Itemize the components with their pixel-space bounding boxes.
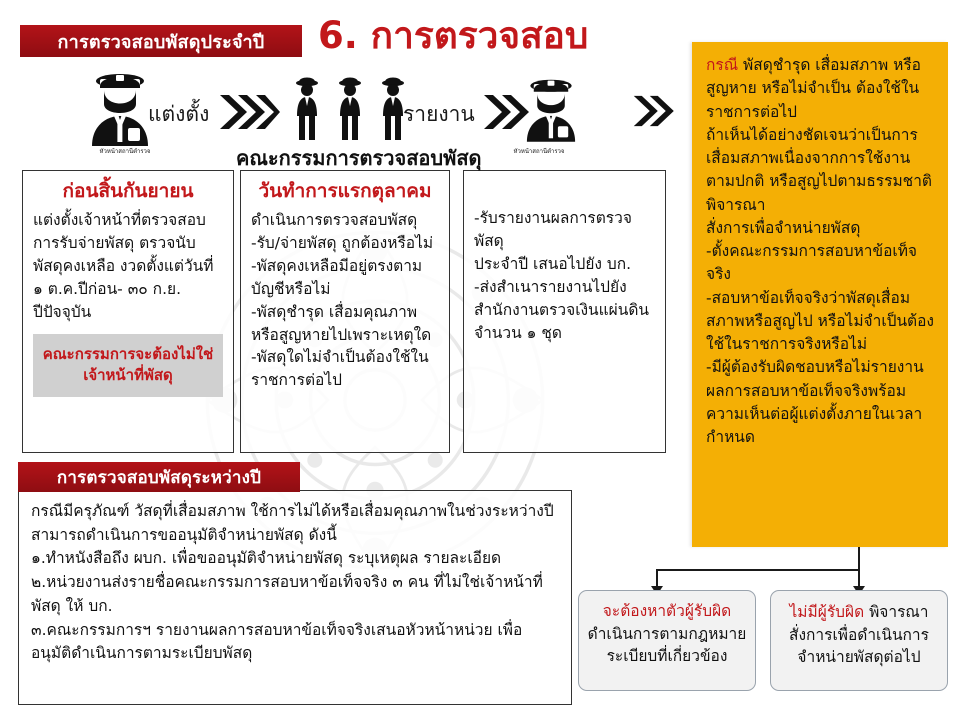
interim-line-1: กรณีมีครุภัณฑ์ วัสดุที่เสื่อมสภาพ ใช้การ… bbox=[31, 500, 559, 524]
result-1-line-1: ดำเนินการตามกฎหมาย bbox=[585, 623, 749, 645]
yellow-block-2: ถ้าเห็นได้อย่างชัดเจนว่าเป็นการเสื่อมสภา… bbox=[706, 124, 936, 217]
card-3-line-3: -ส่งสำเนารายงานไปยัง bbox=[474, 276, 655, 299]
card-2-line-5: -พัสดุชำรุด เสื่อมคุณภาพ bbox=[251, 301, 439, 324]
yellow-block-4: -ตั้งคณะกรรมการสอบหาข้อเท็จจริง bbox=[706, 240, 936, 287]
flow-label-report: รายงาน bbox=[403, 98, 475, 131]
yellow-block-3-head: สั่งการเพื่อจำหน่ายพัสดุ bbox=[706, 217, 936, 240]
card-report-results: -รับรายงานผลการตรวจพัสดุ ประจำปี เสนอไปย… bbox=[463, 170, 666, 453]
card-2-line-1: ดำเนินการตรวจสอบพัสดุ bbox=[251, 209, 439, 232]
card-3-body: -รับรายงานผลการตรวจพัสดุ ประจำปี เสนอไปย… bbox=[474, 179, 655, 345]
panel-damaged-lost-procedure: กรณี พัสดุชำรุด เสื่อมสภาพ หรือสูญหาย หร… bbox=[692, 42, 948, 547]
interim-line-3: ๑.ทำหนังสือถึง ผบก. เพื่อขออนุมัติจำหน่า… bbox=[31, 547, 559, 571]
yellow-block-5: -สอบหาข้อเท็จจริงว่าพัสดุเสื่อมสภาพหรือส… bbox=[706, 287, 936, 357]
inspection-committee-icon bbox=[290, 76, 410, 146]
interim-line-6: ๓.คณะกรรมการฯ รายงานผลการสอบหาข้อเท็จจริ… bbox=[31, 619, 559, 643]
banner-annual-inspection: การตรวจสอบพัสดุประจำปี bbox=[20, 25, 302, 57]
result-2-line-2: จำหน่ายพัสดุต่อไป bbox=[777, 646, 941, 668]
interim-line-5: พัสดุ ให้ บก. bbox=[31, 595, 559, 619]
committee-label: คณะกรรมการตรวจสอบพัสดุ bbox=[236, 142, 482, 174]
card-2-line-2: -รับ/จ่ายพัสดุ ถูกต้องหรือไม่ bbox=[251, 232, 439, 255]
interim-line-7: อนุมัติดำเนินการตามระเบียบพัสดุ bbox=[31, 642, 559, 666]
card-1-title: ก่อนสิ้นกันยายน bbox=[33, 181, 223, 203]
card-3-line-5: จำนวน ๑ ชุด bbox=[474, 322, 655, 345]
card-2-body: ดำเนินการตรวจสอบพัสดุ -รับ/จ่ายพัสดุ ถูก… bbox=[251, 209, 439, 393]
card-before-end-september: ก่อนสิ้นกันยายน แต่งตั้งเจ้าหน้าที่ตรวจส… bbox=[22, 170, 234, 453]
connector-vertical-right bbox=[858, 569, 860, 587]
result-2-head: ไม่มีผู้รับผิด bbox=[790, 603, 865, 621]
yellow-block-1-head: กรณี bbox=[706, 56, 738, 74]
yellow-block-1-text: พัสดุชำรุด เสื่อมสภาพ หรือสูญหาย หรือไม่… bbox=[706, 56, 921, 121]
result-2-head-suffix: พิจารณา bbox=[864, 603, 928, 621]
card-1-line-2: การรับจ่ายพัสดุ ตรวจนับ bbox=[33, 232, 223, 255]
connector-vertical-main bbox=[858, 547, 860, 571]
result-2-line-1: สั่งการเพื่อดำเนินการ bbox=[777, 624, 941, 646]
result-2-head-row: ไม่มีผู้รับผิด พิจารณา bbox=[777, 601, 941, 624]
interim-body: กรณีมีครุภัณฑ์ วัสดุที่เสื่อมสภาพ ใช้การ… bbox=[31, 500, 559, 666]
police-chief-icon bbox=[84, 70, 156, 150]
card-2-line-4: บัญชีหรือไม่ bbox=[251, 278, 439, 301]
yellow-block-6: -มีผู้ต้องรับผิดชอบหรือไม่รายงานผลการสอบ… bbox=[706, 356, 936, 449]
card-2-title: วันทำการแรกตุลาคม bbox=[251, 181, 439, 203]
banner-interim-inspection: การตรวจสอบพัสดุระหว่างปี bbox=[18, 462, 300, 492]
card-1-body: แต่งตั้งเจ้าหน้าที่ตรวจสอบ การรับจ่ายพัส… bbox=[33, 209, 223, 324]
card-2-line-6: หรือสูญหายไปเพราะเหตุใด bbox=[251, 324, 439, 347]
result-box-no-liable-party: ไม่มีผู้รับผิด พิจารณา สั่งการเพื่อดำเนิ… bbox=[770, 590, 948, 691]
result-1-head: จะต้องหาตัวผู้รับผิด bbox=[585, 601, 749, 623]
card-3-line-2: ประจำปี เสนอไปยัง บก. bbox=[474, 253, 655, 276]
panel-interim-inspection: กรณีมีครุภัณฑ์ วัสดุที่เสื่อมสภาพ ใช้การ… bbox=[18, 490, 572, 705]
yellow-block-1: กรณี พัสดุชำรุด เสื่อมสภาพ หรือสูญหาย หร… bbox=[706, 54, 936, 124]
flow-label-appoint: แต่งตั้ง bbox=[148, 98, 209, 131]
card-3-line-4: สำนักงานตรวจเงินแผ่นดิน bbox=[474, 299, 655, 322]
card-2-line-3: -พัสดุคงเหลือมีอยู่ตรงตาม bbox=[251, 255, 439, 278]
connector-horizontal-branch bbox=[656, 569, 860, 571]
result-box-liable-party: จะต้องหาตัวผู้รับผิด ดำเนินการตามกฎหมาย … bbox=[578, 590, 756, 691]
interim-line-2: สามารถดำเนินการขออนุมัติจำหน่ายพัสดุ ดัง… bbox=[31, 524, 559, 548]
card-1-line-5: ปีปัจจุบัน bbox=[33, 301, 223, 324]
card-1-line-1: แต่งตั้งเจ้าหน้าที่ตรวจสอบ bbox=[33, 209, 223, 232]
interim-line-4: ๒.หน่วยงานส่งรายชื่อคณะกรรมการสอบหาข้อเท… bbox=[31, 571, 559, 595]
card-1-note: คณะกรรมการจะต้องไม่ใช่ เจ้าหน้าที่พัสดุ bbox=[33, 334, 223, 398]
double-chevron-right-icon bbox=[218, 92, 280, 132]
card-first-working-day-october: วันทำการแรกตุลาคม ดำเนินการตรวจสอบพัสดุ … bbox=[240, 170, 450, 453]
card-1-line-3: พัสดุคงเหลือ งวดตั้งแต่วันที่ bbox=[33, 255, 223, 278]
result-1-line-2: ระเบียบที่เกี่ยวข้อง bbox=[585, 645, 749, 667]
chief-caption-left: หัวหน้าสถานีตำรวจ bbox=[86, 146, 164, 156]
card-2-line-8: ราชการต่อไป bbox=[251, 369, 439, 392]
page-title: 6. การตรวจสอบ bbox=[318, 6, 588, 65]
connector-vertical-left bbox=[656, 569, 658, 587]
police-chief-icon-2 bbox=[520, 74, 582, 148]
double-chevron-right-icon-3 bbox=[632, 92, 680, 130]
chief-caption-right: หัวหน้าสถานีตำรวจ bbox=[500, 146, 578, 156]
card-2-line-7: -พัสดุใดไม่จำเป็นต้องใช้ใน bbox=[251, 346, 439, 369]
slide-canvas: การตรวจสอบพัสดุประจำปี 6. การตรวจสอบ แต่… bbox=[0, 0, 960, 720]
card-3-line-1: -รับรายงานผลการตรวจพัสดุ bbox=[474, 207, 655, 253]
card-1-line-4: ๑ ต.ค.ปีก่อน- ๓๐ ก.ย. bbox=[33, 278, 223, 301]
